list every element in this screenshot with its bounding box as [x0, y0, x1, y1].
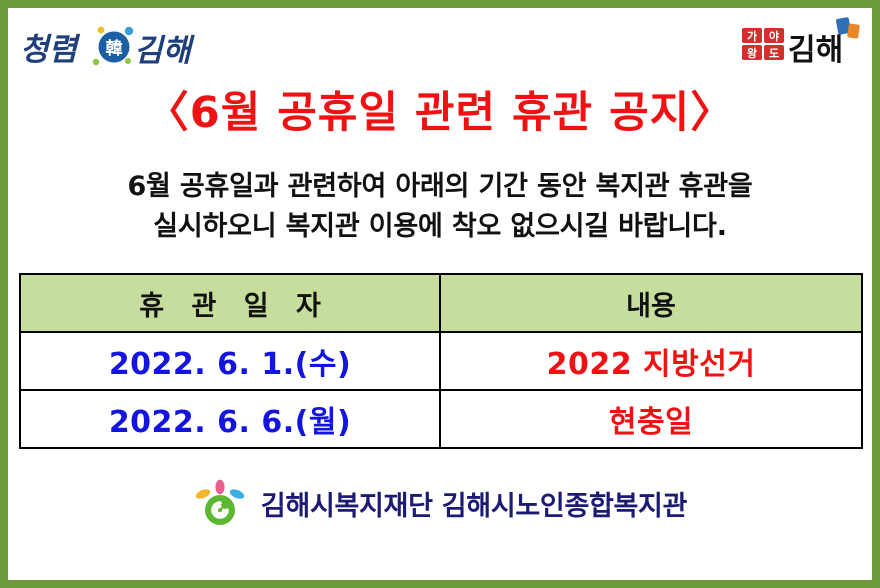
svg-text:야: 야 [769, 29, 779, 43]
gimhae-welfare-foundation-logo [193, 479, 247, 527]
cell-description: 2022 지방선거 [440, 332, 862, 390]
table-row: 2022. 6. 6.(월) 현충일 [20, 390, 862, 448]
notice-body-line-2: 실시하오니 복지관 이용에 착오 없으시길 바랍니다. [8, 207, 872, 247]
svg-text:韓: 韓 [106, 38, 123, 59]
notice-poster: 청렴 韓 김해 가 야 왕 도 김해 [0, 0, 880, 588]
page-title: 〈6월 공휴일 관련 휴관 공지〉 [8, 90, 872, 137]
cell-description: 현충일 [440, 390, 862, 448]
column-header-description: 내용 [440, 274, 862, 332]
notice-body-line-1: 6월 공휴일과 관련하여 아래의 기간 동안 복지관 휴관을 [8, 167, 872, 207]
gimhae-city-logo: 가 야 왕 도 김해 [740, 16, 860, 70]
svg-text:김해: 김해 [134, 33, 196, 69]
poster-header: 청렴 韓 김해 가 야 왕 도 김해 [8, 8, 872, 76]
svg-text:도: 도 [769, 47, 779, 60]
cell-closure-date: 2022. 6. 1.(수) [20, 332, 440, 390]
poster-footer: 김해시복지재단 김해시노인종합복지관 [8, 479, 872, 527]
svg-text:청렴: 청렴 [20, 32, 81, 68]
table-row: 2022. 6. 1.(수) 2022 지방선거 [20, 332, 862, 390]
notice-body: 6월 공휴일과 관련하여 아래의 기간 동안 복지관 휴관을 실시하오니 복지관… [8, 167, 872, 247]
closure-schedule-table: 휴 관 일 자 내용 2022. 6. 1.(수) 2022 지방선거 2022… [19, 273, 863, 449]
column-header-closure-date: 휴 관 일 자 [20, 274, 440, 332]
svg-text:가: 가 [747, 29, 757, 43]
cell-closure-date: 2022. 6. 6.(월) [20, 390, 440, 448]
table-header-row: 휴 관 일 자 내용 [20, 274, 862, 332]
gimhae-integrity-logo: 청렴 韓 김해 [16, 20, 206, 70]
closure-table-wrapper: 휴 관 일 자 내용 2022. 6. 1.(수) 2022 지방선거 2022… [19, 273, 861, 449]
svg-text:김해: 김해 [788, 33, 843, 68]
svg-text:왕: 왕 [747, 46, 757, 60]
footer-organization-name: 김해시복지재단 김해시노인종합복지관 [261, 484, 687, 523]
